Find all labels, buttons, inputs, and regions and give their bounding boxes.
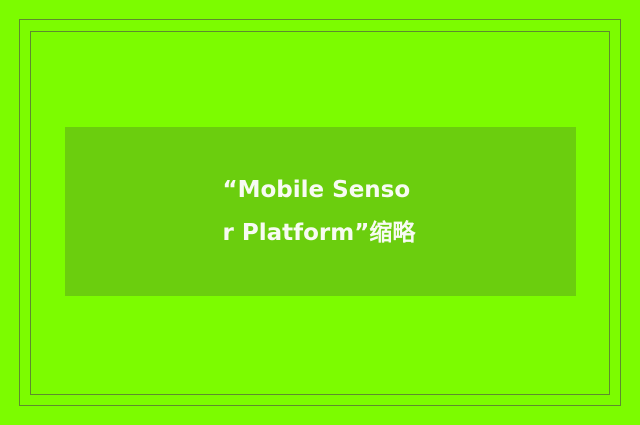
slide-title: “Mobile Sensor Platform”缩略: [223, 169, 419, 255]
title-panel: “Mobile Sensor Platform”缩略: [65, 127, 576, 296]
slide-canvas: “Mobile Sensor Platform”缩略: [0, 0, 640, 425]
